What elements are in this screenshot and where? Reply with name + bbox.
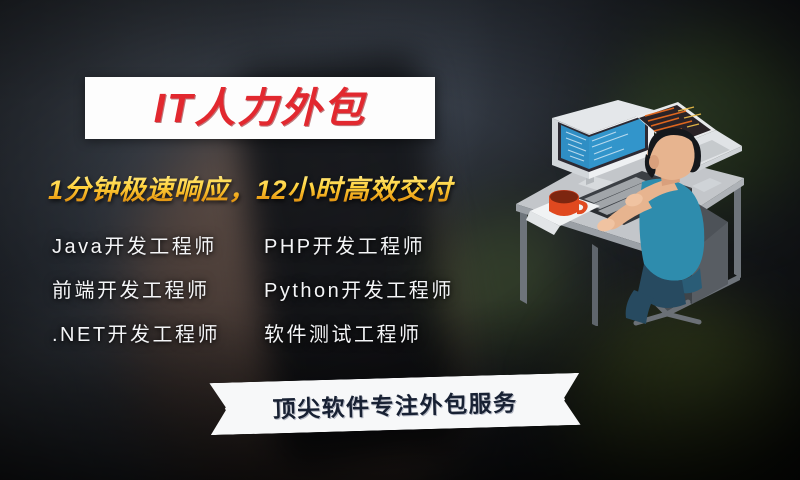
ribbon-body: 顶尖软件专注外包服务: [209, 373, 580, 435]
tagline-text: 顶尖软件专注外包服务: [272, 384, 518, 425]
page-title: IT人力外包: [154, 88, 366, 129]
subtitle: 1分钟极速响应，12小时高效交付: [48, 176, 518, 204]
developer-illustration: [496, 78, 800, 326]
tagline-ribbon: 顶尖软件专注外包服务: [209, 373, 580, 435]
service-item: 软件测试工程师: [264, 318, 512, 347]
promo-banner: IT人力外包 1分钟极速响应，12小时高效交付 Java开发工程师 PHP开发工…: [0, 0, 800, 480]
service-item: PHP开发工程师: [264, 230, 512, 259]
service-item: 前端开发工程师: [52, 274, 264, 303]
service-item: Python开发工程师: [264, 274, 512, 303]
service-item: Java开发工程师: [52, 230, 264, 259]
headline-plate: IT人力外包: [85, 77, 435, 139]
service-list: Java开发工程师 PHP开发工程师 前端开发工程师 Python开发工程师 .…: [52, 222, 512, 354]
service-item: .NET开发工程师: [52, 318, 264, 347]
